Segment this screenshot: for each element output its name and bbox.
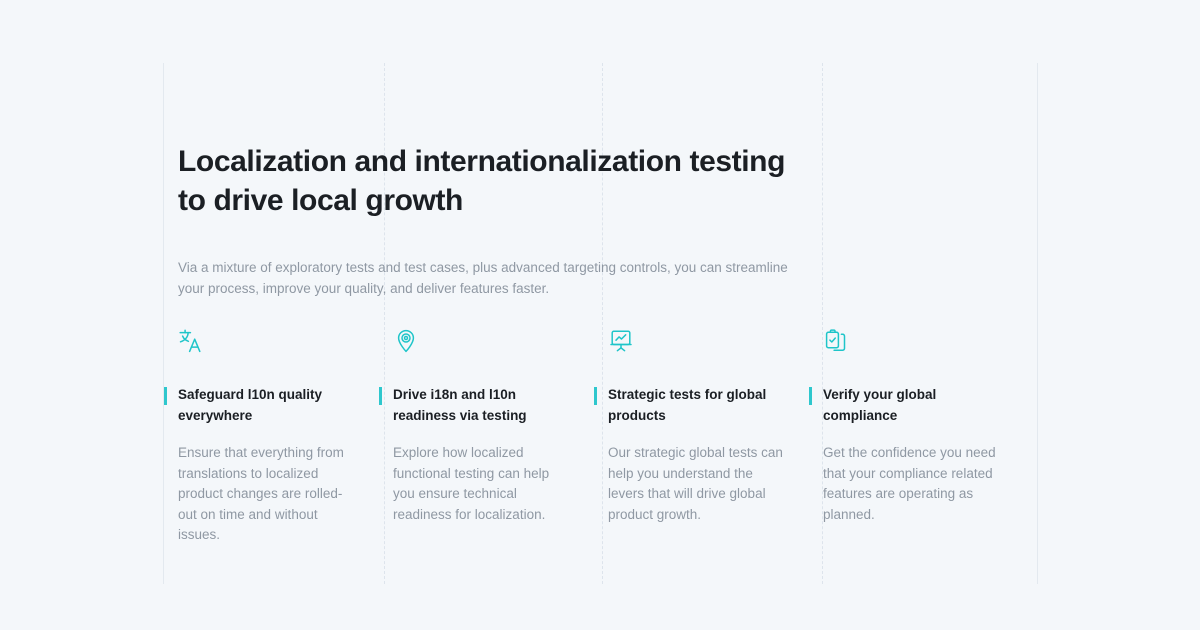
clipboard-check-icon	[823, 328, 1000, 358]
content-frame: Localization and internationalization te…	[163, 63, 1038, 584]
feature-title-row-2: Drive i18n and l10n readiness via testin…	[393, 384, 570, 426]
content-inner: Localization and internationalization te…	[178, 63, 1038, 584]
feature-title: Safeguard l10n quality everywhere	[178, 384, 355, 426]
feature-title-row-1: Safeguard l10n quality everywhere	[178, 384, 355, 426]
page-title: Localization and internationalization te…	[178, 142, 818, 220]
presentation-chart-icon	[608, 328, 785, 358]
feature-body: Explore how localized functional testing…	[393, 443, 570, 525]
feature-title: Verify your global compliance	[823, 384, 1000, 426]
translate-icon	[178, 328, 355, 358]
accent-bar	[164, 387, 167, 405]
feature-title: Drive i18n and l10n readiness via testin…	[393, 384, 570, 426]
accent-bar	[379, 387, 382, 405]
feature-title: Strategic tests for global products	[608, 384, 785, 426]
feature-card-2: Drive i18n and l10n readiness via testin…	[393, 328, 608, 546]
page-root: Localization and internationalization te…	[0, 0, 1200, 630]
feature-body: Our strategic global tests can help you …	[608, 443, 785, 525]
map-pin-icon	[393, 328, 570, 358]
feature-grid: Safeguard l10n quality everywhere Ensure…	[178, 328, 1038, 546]
feature-body: Get the confidence you need that your co…	[823, 443, 1000, 525]
feature-body: Ensure that everything from translations…	[178, 443, 355, 546]
feature-card-3: Strategic tests for global products Our …	[608, 328, 823, 546]
accent-bar	[594, 387, 597, 405]
feature-title-row-4: Verify your global compliance	[823, 384, 1000, 426]
feature-card-4: Verify your global compliance Get the co…	[823, 328, 1038, 546]
feature-card-1: Safeguard l10n quality everywhere Ensure…	[178, 328, 393, 546]
feature-title-row-3: Strategic tests for global products	[608, 384, 785, 426]
accent-bar	[809, 387, 812, 405]
page-subtitle: Via a mixture of exploratory tests and t…	[178, 257, 810, 299]
